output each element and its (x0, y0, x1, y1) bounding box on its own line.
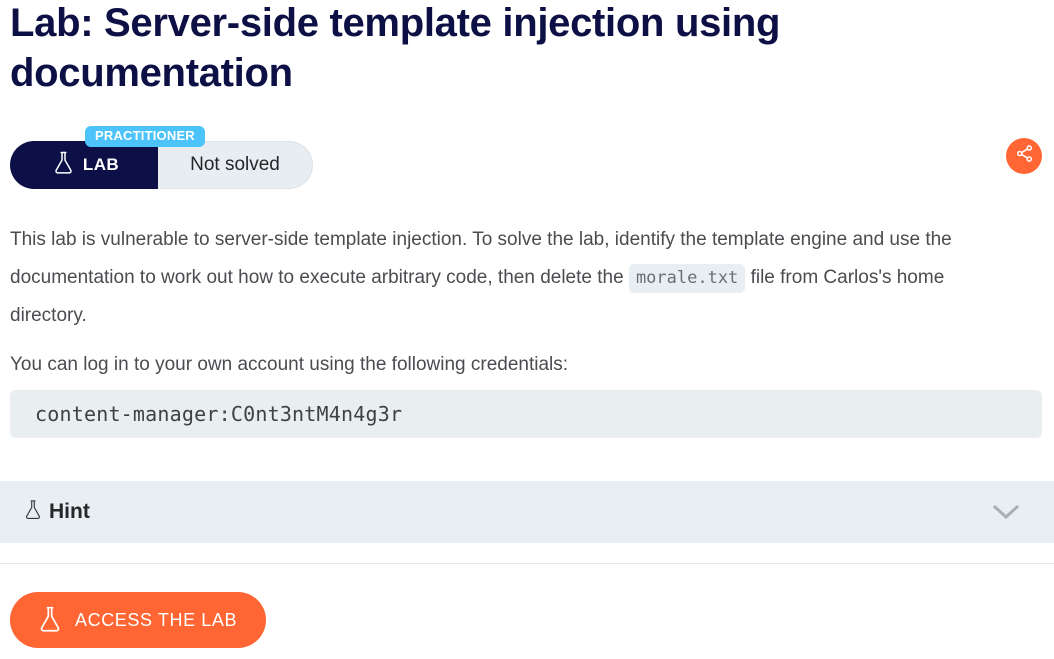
share-button[interactable] (1006, 138, 1042, 174)
lab-page: Lab: Server-side template injection usin… (0, 0, 1054, 659)
hint-label: Hint (49, 500, 90, 524)
page-title: Lab: Server-side template injection usin… (10, 0, 870, 98)
credentials-block: content-manager:C0nt3ntM4n4g3r (10, 390, 1042, 438)
share-icon (1015, 144, 1034, 168)
flask-icon (53, 151, 74, 179)
lab-description: This lab is vulnerable to server-side te… (10, 221, 1020, 395)
flask-icon (38, 606, 62, 635)
credentials-value: content-manager:C0nt3ntM4n4g3r (35, 402, 402, 426)
lab-status-widget: LAB Not solved PRACTITIONER (0, 126, 1054, 192)
status-badge: Not solved (190, 154, 280, 176)
flask-icon (24, 499, 42, 525)
section-divider (0, 563, 1054, 564)
description-paragraph-2: You can log in to your own account using… (10, 346, 1020, 384)
access-lab-button[interactable]: ACCESS THE LAB (10, 592, 266, 648)
lab-badge-label: LAB (83, 155, 119, 175)
description-paragraph-1: This lab is vulnerable to server-side te… (10, 221, 1020, 335)
lab-status-badge: LAB Not solved (10, 141, 313, 189)
lab-badge-left: LAB (10, 141, 158, 189)
hint-accordion-header: Hint (24, 499, 90, 525)
inline-code-filename: morale.txt (629, 264, 745, 293)
chevron-down-icon[interactable] (991, 500, 1021, 529)
lab-badge-solved-state: Not solved (158, 141, 313, 189)
difficulty-badge: PRACTITIONER (85, 126, 205, 147)
access-lab-button-label: ACCESS THE LAB (75, 610, 237, 631)
hint-accordion[interactable]: Hint (0, 481, 1054, 543)
